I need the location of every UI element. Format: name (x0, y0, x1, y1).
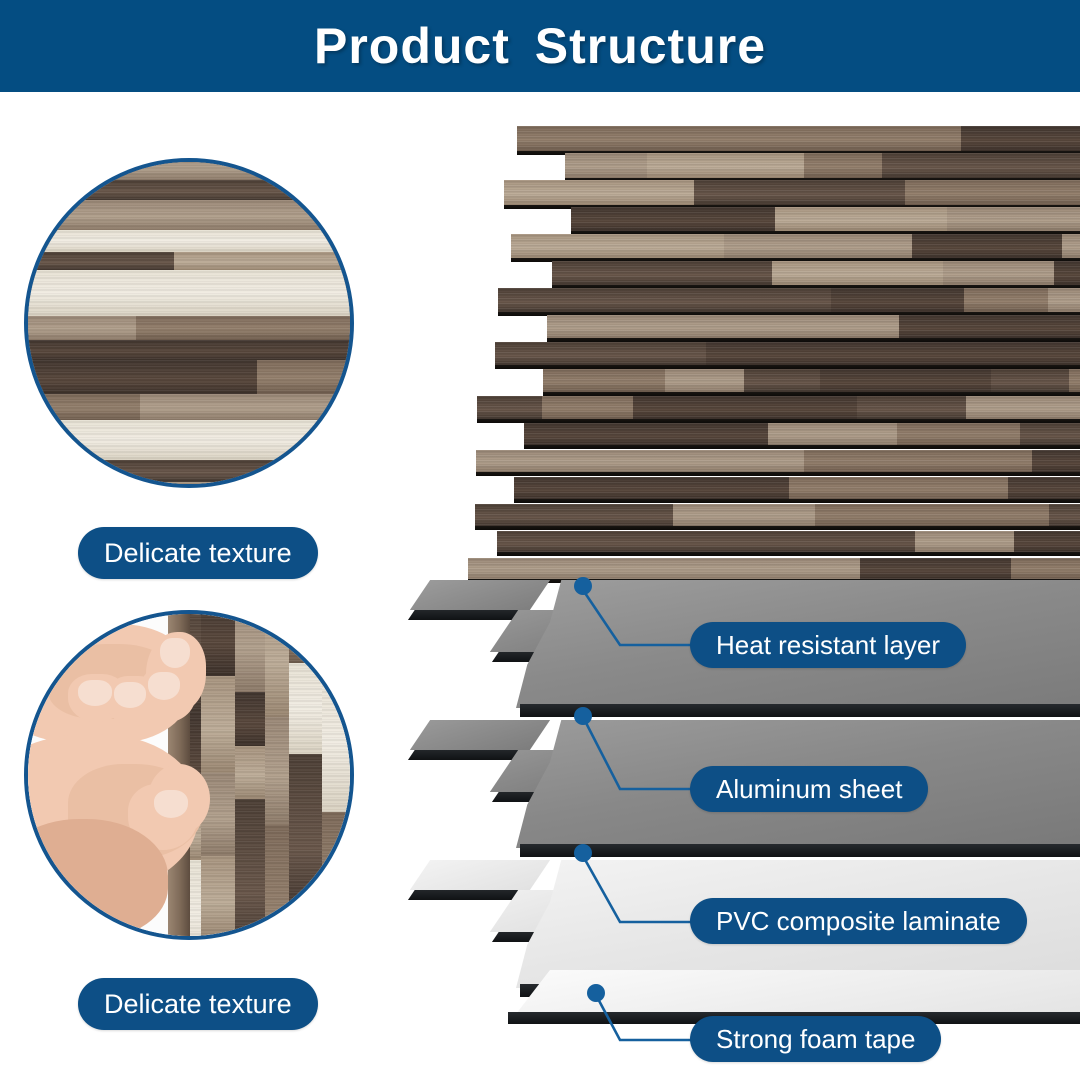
wood-grain (475, 504, 674, 526)
wood-grain (701, 315, 900, 338)
slat-segment (694, 180, 906, 205)
wood-grain (1008, 477, 1080, 499)
wood-plank (24, 180, 354, 200)
wood-grain (899, 315, 1033, 338)
wood-grain (912, 234, 1063, 258)
wood-grain (947, 207, 1080, 231)
slat-segment (804, 450, 1033, 472)
slat-segment (679, 531, 916, 552)
wood-plank (140, 394, 354, 420)
wood-plank (24, 270, 127, 316)
slat-segment (768, 423, 898, 445)
slat-segment (511, 234, 725, 258)
slat-segment (468, 558, 630, 579)
slat-segment (815, 504, 1050, 526)
wood-slat (468, 558, 1080, 579)
callout-pvc-composite-laminate[interactable]: PVC composite laminate (690, 898, 1027, 944)
wood-plank (24, 158, 354, 180)
wood-grain (966, 396, 1080, 419)
fingernail (78, 680, 112, 706)
hand-shape (24, 819, 168, 939)
slat-segment (514, 477, 626, 499)
wood-grain (724, 234, 914, 258)
slat-segment (897, 423, 1021, 445)
feature-image-peel-demo (24, 610, 354, 940)
wood-grain (815, 504, 1050, 526)
wood-plank (353, 810, 354, 940)
wood-grain (882, 153, 1080, 178)
slat-segment (1048, 288, 1080, 312)
wood-slat (498, 288, 1080, 312)
fingernail (160, 638, 190, 668)
wood-grain (571, 207, 777, 231)
wood-grain (1020, 423, 1080, 445)
wood-plank (162, 482, 354, 488)
wood-grain (915, 531, 1016, 552)
slat-segment (724, 234, 914, 258)
slat-segment (498, 288, 739, 312)
slat-segment (647, 153, 805, 178)
wood-plank (24, 230, 354, 252)
slat-segment (775, 207, 948, 231)
feature-image-texture-closeup (24, 158, 354, 488)
wood-plank (289, 663, 323, 755)
wood-slat (552, 261, 1080, 285)
wood-texture-photo (28, 162, 350, 484)
wood-slat (495, 342, 1080, 365)
slat-segment (504, 180, 695, 205)
slat-segment (571, 207, 777, 231)
callout-label: Heat resistant layer (716, 632, 940, 658)
wood-grain (647, 153, 805, 178)
slat-segment (547, 315, 703, 338)
slat-segment (1069, 369, 1080, 392)
peel-demo-photo (28, 614, 350, 936)
fingernail (114, 682, 146, 708)
wood-grain (738, 288, 833, 312)
wood-grain (860, 558, 1013, 579)
wood-plank (201, 676, 236, 773)
slat-segment (966, 396, 1080, 419)
slat-segment (1014, 531, 1080, 552)
wood-grain (665, 369, 745, 392)
slat-segment (881, 477, 1009, 499)
slat-segment (804, 153, 884, 178)
wood-slat (565, 153, 1080, 178)
slat-segment (517, 126, 747, 151)
slat-segment (860, 558, 1013, 579)
wood-grain (547, 315, 703, 338)
callout-label: PVC composite laminate (716, 908, 1001, 934)
wood-grain (626, 477, 790, 499)
wood-grain (495, 342, 708, 365)
wood-grain (961, 126, 1080, 151)
slat-segment (701, 315, 900, 338)
page-header: Product Structure (0, 0, 1080, 92)
wood-grain (679, 531, 916, 552)
wood-slat-face (420, 120, 1080, 590)
wood-grain (633, 396, 858, 419)
wood-plank (154, 420, 354, 460)
wood-plank (201, 610, 236, 676)
slat-segment (565, 153, 648, 178)
wood-grain (629, 558, 860, 579)
wood-grain (1011, 558, 1073, 579)
callout-label: Aluminum sheet (716, 776, 902, 802)
wood-grain (964, 288, 1049, 312)
wood-grain (857, 396, 967, 419)
wood-grain (820, 369, 992, 392)
wood-slat (514, 477, 1080, 499)
slat-segment (943, 261, 1055, 285)
slat-segment (475, 504, 674, 526)
slat-segment (1062, 234, 1080, 258)
wood-grain (881, 477, 1009, 499)
wood-grain (772, 261, 944, 285)
wood-grain (1014, 531, 1080, 552)
wood-grain (468, 558, 630, 579)
wood-grain (768, 423, 898, 445)
wood-grain (542, 396, 634, 419)
wood-slat (475, 504, 1080, 526)
wood-plank (24, 394, 144, 420)
slat-segment (1032, 450, 1080, 472)
wood-grain (477, 396, 543, 419)
slat-segment (820, 369, 992, 392)
wood-grain (651, 261, 773, 285)
callout-label: Strong foam tape (716, 1026, 915, 1052)
fingernail (154, 790, 188, 818)
wood-plank (322, 672, 355, 812)
wood-slat (476, 450, 1080, 472)
wood-slat (547, 315, 1080, 338)
slat-segment (899, 315, 1033, 338)
wood-plank (353, 734, 354, 810)
wood-grain (775, 207, 948, 231)
wood-grain (706, 342, 871, 365)
slat-segment (961, 126, 1080, 151)
wood-grain (497, 531, 680, 552)
wood-grain (991, 369, 1070, 392)
wood-plank (201, 856, 236, 940)
slat-segment (772, 261, 944, 285)
wood-plank (289, 610, 323, 663)
callout-heat-resistant-layer[interactable]: Heat resistant layer (690, 622, 966, 668)
wood-grain (905, 180, 1080, 205)
wood-slat (524, 423, 1080, 445)
wood-plank (123, 270, 354, 316)
slat-segment (1008, 477, 1080, 499)
wood-grain (943, 261, 1055, 285)
slat-segment (629, 558, 860, 579)
wood-plank (24, 482, 166, 488)
slat-segment (651, 261, 773, 285)
wood-grain (871, 342, 1050, 365)
slat-segment (991, 369, 1070, 392)
wood-plank (24, 460, 354, 482)
wood-grain (744, 369, 821, 392)
wood-plank (265, 825, 290, 940)
wood-plank (322, 935, 355, 940)
slat-segment (477, 396, 543, 419)
wood-plank (174, 252, 354, 270)
wood-plank (289, 912, 323, 940)
wood-grain (514, 477, 626, 499)
wood-plank (235, 799, 266, 940)
slat-segment (673, 504, 816, 526)
fingernail (148, 672, 180, 700)
slat-segment (831, 288, 964, 312)
slat-segment (706, 342, 871, 365)
slat-segment (744, 369, 821, 392)
slat-segment (871, 342, 1050, 365)
wood-plank (265, 717, 290, 824)
slat-segment (495, 342, 708, 365)
wood-grain (789, 477, 882, 499)
slat-segment (1011, 558, 1073, 579)
feature-caption-label: Delicate texture (104, 991, 292, 1018)
slat-segment (857, 396, 967, 419)
page-title: Product Structure (314, 21, 766, 71)
wood-grain (511, 234, 725, 258)
wood-slat (511, 234, 1080, 258)
wood-grain (804, 450, 1033, 472)
callout-strong-foam-tape[interactable]: Strong foam tape (690, 1016, 941, 1062)
slat-segment (1032, 315, 1080, 338)
wood-grain (476, 450, 586, 472)
wood-grain (504, 180, 695, 205)
wood-plank (24, 340, 354, 360)
wood-grain (1069, 369, 1080, 392)
wood-grain (498, 288, 739, 312)
feature-caption-peel-demo: Delicate texture (78, 978, 318, 1030)
wood-plank (24, 200, 354, 230)
slat-segment (1020, 423, 1080, 445)
wood-plank (24, 316, 140, 340)
infographic-root: Product Structure (0, 0, 1080, 1080)
wood-grain (831, 288, 964, 312)
wood-grain (524, 423, 769, 445)
wood-slat (517, 126, 1080, 151)
wood-grain (585, 450, 805, 472)
wood-slat (504, 180, 1080, 205)
slat-segment (789, 477, 882, 499)
slat-segment (542, 396, 634, 419)
slat-segment (947, 207, 1080, 231)
wood-grain (746, 126, 962, 151)
slat-segment (905, 180, 1080, 205)
slat-segment (626, 477, 790, 499)
wood-plank (235, 692, 266, 747)
slat-segment (1048, 342, 1080, 365)
slat-segment (665, 369, 745, 392)
slat-segment (633, 396, 858, 419)
slat-segment (746, 126, 962, 151)
wood-grain (673, 504, 816, 526)
wood-grain (1049, 504, 1080, 526)
wood-plank (265, 610, 290, 717)
wood-grain (552, 261, 652, 285)
slat-segment (915, 531, 1016, 552)
slat-segment (1054, 261, 1080, 285)
feature-caption-label: Delicate texture (104, 540, 292, 567)
wood-plank (24, 420, 158, 460)
wood-grain (897, 423, 1021, 445)
wood-plank (201, 939, 236, 940)
wood-grain (1048, 288, 1080, 312)
wood-grain (694, 180, 906, 205)
wood-plank (235, 746, 266, 799)
wood-grain (1032, 450, 1080, 472)
slat-segment (476, 450, 586, 472)
slat-segment (912, 234, 1063, 258)
wood-plank (24, 252, 178, 270)
slat-segment (497, 531, 680, 552)
wood-grain (804, 153, 884, 178)
feature-caption-texture-closeup: Delicate texture (78, 527, 318, 579)
wood-slat (543, 369, 1080, 392)
wood-plank (136, 316, 354, 340)
wood-plank (322, 812, 355, 935)
wood-slat (571, 207, 1080, 231)
callout-aluminum-sheet[interactable]: Aluminum sheet (690, 766, 928, 812)
wood-grain (1062, 234, 1080, 258)
wood-grain (565, 153, 648, 178)
wood-plank (289, 754, 323, 912)
wood-plank (235, 610, 266, 692)
wood-grain (1072, 558, 1080, 579)
slat-segment (882, 153, 1080, 178)
slat-segment (1049, 504, 1080, 526)
wood-plank (257, 360, 354, 394)
wood-plank (353, 610, 354, 734)
wood-slat (477, 396, 1080, 419)
wood-plank (322, 610, 355, 672)
slat-segment (543, 369, 666, 392)
wood-grain (1032, 315, 1080, 338)
wood-grain (517, 126, 747, 151)
wood-grain (543, 369, 666, 392)
wood-grain (1048, 342, 1080, 365)
slat-segment (738, 288, 833, 312)
slat-segment (552, 261, 652, 285)
slat-segment (585, 450, 805, 472)
wood-slat (497, 531, 1080, 552)
slat-segment (524, 423, 769, 445)
slat-segment (1072, 558, 1080, 579)
slat-segment (964, 288, 1049, 312)
wood-plank (24, 360, 261, 394)
wood-grain (1054, 261, 1080, 285)
